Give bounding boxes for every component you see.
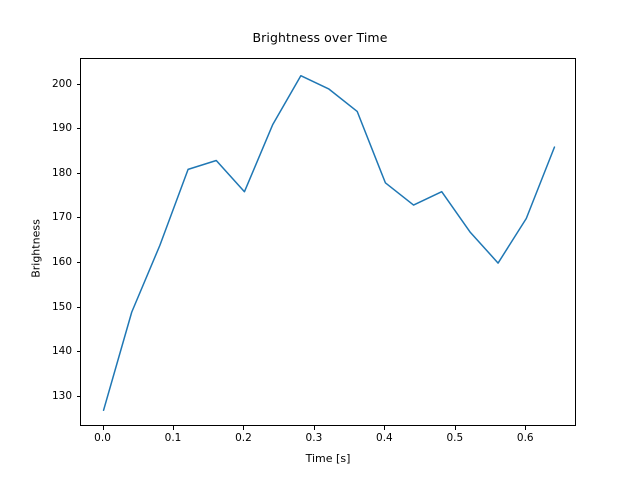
y-tick-mark xyxy=(77,173,81,174)
brightness-line xyxy=(104,76,555,411)
y-tick-label: 130 xyxy=(26,390,72,402)
y-tick-label: 140 xyxy=(26,345,72,357)
y-axis-label: Brightness xyxy=(30,189,43,309)
x-tick-mark xyxy=(384,426,385,430)
plot-area xyxy=(80,58,576,426)
x-tick-mark xyxy=(173,426,174,430)
y-tick-mark xyxy=(77,262,81,263)
y-tick-label: 190 xyxy=(26,122,72,134)
y-tick-mark xyxy=(77,217,81,218)
chart-title: Brightness over Time xyxy=(0,30,640,45)
x-tick-mark xyxy=(314,426,315,430)
y-tick-label: 200 xyxy=(26,78,72,90)
y-tick-mark xyxy=(77,396,81,397)
x-tick-label: 0.5 xyxy=(446,432,463,444)
x-tick-label: 0.3 xyxy=(306,432,323,444)
y-tick-mark xyxy=(77,351,81,352)
line-series-svg xyxy=(81,59,577,427)
y-tick-mark xyxy=(77,128,81,129)
y-tick-mark xyxy=(77,84,81,85)
x-tick-mark xyxy=(103,426,104,430)
figure-canvas: Brightness over Time 1301401501601701801… xyxy=(0,0,640,480)
x-tick-label: 0.0 xyxy=(94,432,111,444)
x-tick-mark xyxy=(243,426,244,430)
x-tick-label: 0.6 xyxy=(517,432,534,444)
y-tick-mark xyxy=(77,307,81,308)
x-axis-label: Time [s] xyxy=(80,452,576,465)
x-tick-label: 0.2 xyxy=(235,432,252,444)
x-tick-mark xyxy=(525,426,526,430)
x-tick-label: 0.1 xyxy=(165,432,182,444)
x-tick-label: 0.4 xyxy=(376,432,393,444)
y-tick-label: 180 xyxy=(26,167,72,179)
x-tick-mark xyxy=(455,426,456,430)
